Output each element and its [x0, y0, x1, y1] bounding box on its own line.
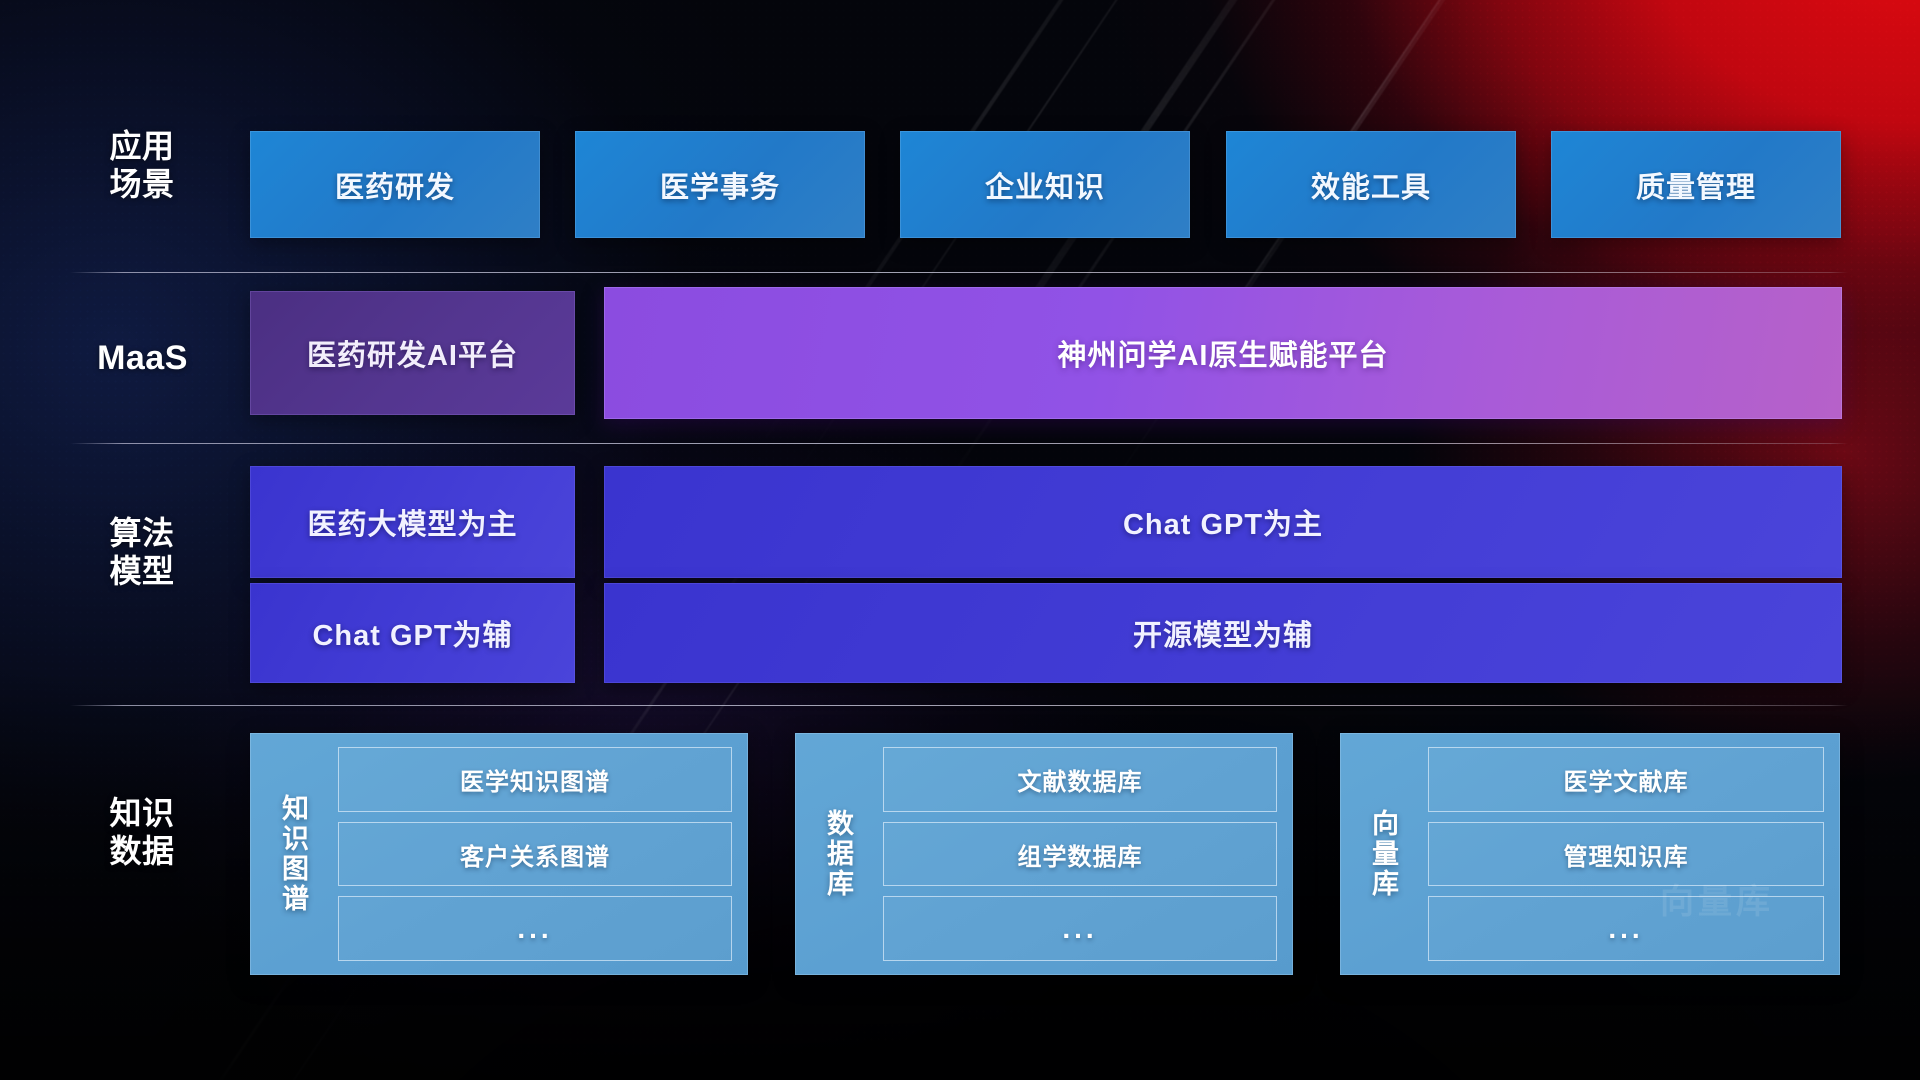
architecture-diagram: 应用 场景 医药研发 医学事务 企业知识 效能工具 质量管理 MaaS 医药研发… [0, 0, 1920, 1080]
row-label-knowledge-data: 知识 数据 [78, 795, 206, 871]
algorithm-cell-label: Chat GPT为主 [1123, 501, 1323, 543]
app-scenario-box-5[interactable]: 质量管理 [1551, 131, 1841, 238]
app-scenario-box-4[interactable]: 效能工具 [1226, 131, 1516, 238]
maas-platform-medical[interactable]: 医药研发AI平台 [250, 291, 575, 415]
app-scenario-label: 医药研发 [335, 164, 455, 206]
app-scenario-box-2[interactable]: 医学事务 [575, 131, 865, 238]
divider-maas-algorithm [70, 443, 1848, 444]
maas-platform-label: 神州问学AI原生赋能平台 [1057, 332, 1388, 374]
row-label-algorithm-model: 算法 模型 [78, 515, 206, 591]
knowledge-card-knowledge-graph[interactable]: 知 识 图 谱 医学知识图谱 客户关系图谱 ... [250, 733, 748, 975]
row-label-maas: MaaS [70, 338, 215, 378]
knowledge-item[interactable]: 文献数据库 [883, 747, 1277, 812]
knowledge-item[interactable]: 组学数据库 [883, 822, 1277, 887]
knowledge-card-item-list: 文献数据库 组学数据库 ... [873, 747, 1277, 961]
maas-platform-shenzhou[interactable]: 神州问学AI原生赋能平台 [604, 287, 1842, 419]
knowledge-card-side-label: 知 识 图 谱 [264, 747, 328, 961]
knowledge-item-more[interactable]: ... [1428, 896, 1824, 961]
app-scenario-label: 医学事务 [660, 164, 780, 206]
maas-platform-label: 医药研发AI平台 [307, 332, 518, 374]
algorithm-cell-secondary-opensource[interactable]: 开源模型为辅 [604, 583, 1842, 683]
knowledge-item[interactable]: 管理知识库 [1428, 822, 1824, 887]
knowledge-card-vector-store[interactable]: 向 量 库 医学文献库 管理知识库 ... 向量库 [1340, 733, 1840, 975]
app-scenario-label: 企业知识 [985, 164, 1105, 206]
knowledge-item[interactable]: 客户关系图谱 [338, 822, 732, 887]
knowledge-item[interactable]: 医学文献库 [1428, 747, 1824, 812]
algorithm-cell-label: 医药大模型为主 [307, 501, 517, 543]
divider-algorithm-knowledge [70, 705, 1848, 706]
knowledge-card-item-list: 医学知识图谱 客户关系图谱 ... [328, 747, 732, 961]
app-scenario-label: 效能工具 [1311, 164, 1431, 206]
row-label-application-scenarios: 应用 场景 [78, 128, 206, 204]
divider-application-maas [70, 272, 1848, 273]
algorithm-cell-label: Chat GPT为辅 [312, 612, 512, 654]
algorithm-cell-label: 开源模型为辅 [1133, 612, 1313, 654]
knowledge-item-more[interactable]: ... [883, 896, 1277, 961]
app-scenario-box-1[interactable]: 医药研发 [250, 131, 540, 238]
knowledge-item-more[interactable]: ... [338, 896, 732, 961]
knowledge-card-side-label: 向 量 库 [1354, 747, 1418, 961]
algorithm-cell-primary-medical[interactable]: 医药大模型为主 [250, 466, 575, 578]
knowledge-card-item-list: 医学文献库 管理知识库 ... [1418, 747, 1824, 961]
app-scenario-box-3[interactable]: 企业知识 [900, 131, 1190, 238]
algorithm-cell-primary-chatgpt[interactable]: Chat GPT为主 [604, 466, 1842, 578]
knowledge-card-side-label: 数 据 库 [809, 747, 873, 961]
knowledge-card-database[interactable]: 数 据 库 文献数据库 组学数据库 ... [795, 733, 1293, 975]
knowledge-item[interactable]: 医学知识图谱 [338, 747, 732, 812]
app-scenario-label: 质量管理 [1636, 164, 1756, 206]
algorithm-cell-secondary-chatgpt[interactable]: Chat GPT为辅 [250, 583, 575, 683]
